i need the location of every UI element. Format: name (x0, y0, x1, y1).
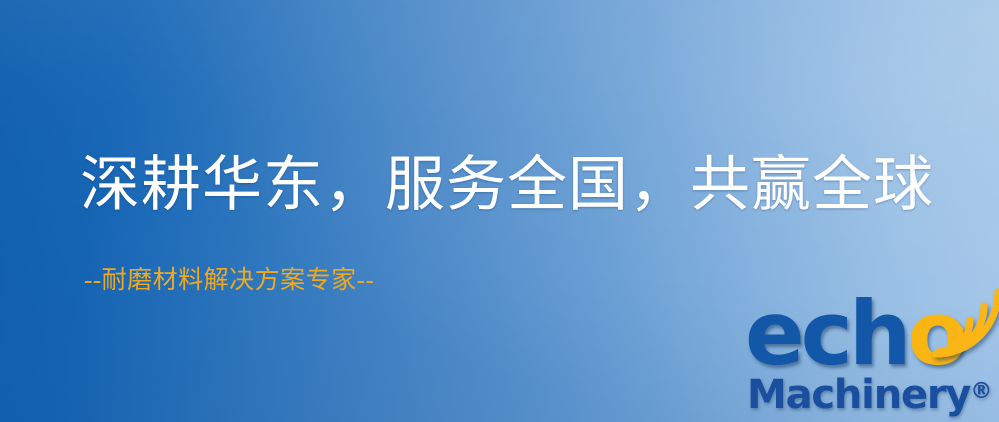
logo-subtext: Machinery® (747, 370, 992, 417)
registered-trademark-icon: ® (970, 379, 992, 404)
signal-arcs-icon (930, 294, 999, 356)
promotional-banner: 深耕华东，服务全国，共赢全球 --耐磨材料解决方案专家-- echo Machi… (0, 0, 999, 422)
echo-machinery-logo: echo Machinery® (745, 292, 999, 422)
logo-subtext-label: Machinery (747, 372, 970, 418)
banner-headline: 深耕华东，服务全国，共赢全球 (80, 152, 934, 218)
banner-subheadline: --耐磨材料解决方案专家-- (84, 266, 374, 296)
